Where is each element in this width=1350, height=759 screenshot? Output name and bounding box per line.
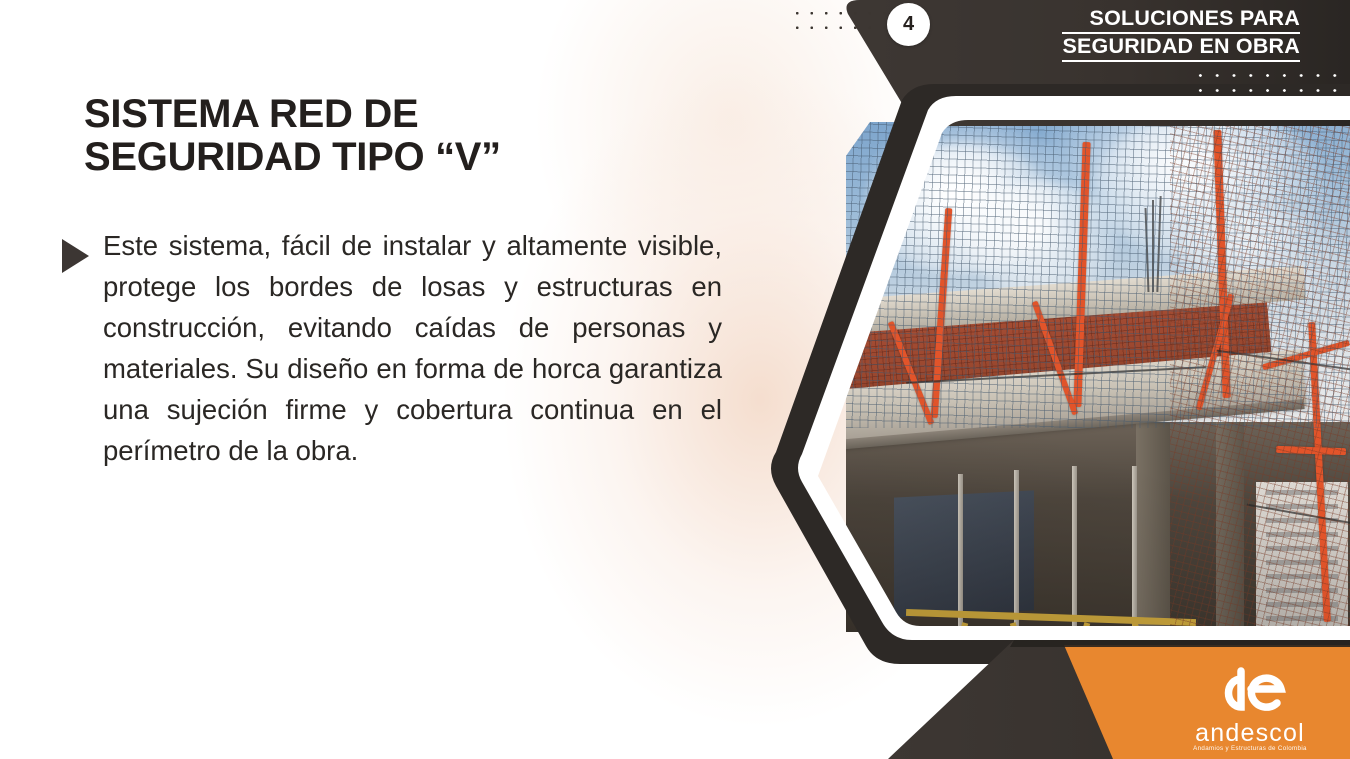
construction-photo <box>846 122 1350 632</box>
logo-wordmark: andescol <box>1160 720 1340 746</box>
header-title-line1: SOLUCIONES PARA <box>1062 6 1300 34</box>
footer-strip <box>1010 640 1350 647</box>
brand-logo: andescol Andamios y Estructuras de Colom… <box>1160 662 1340 753</box>
slide-title: SISTEMA RED DE SEGURIDAD TIPO “V” <box>84 93 724 179</box>
header-title-line2: SEGURIDAD EN OBRA <box>1062 34 1300 62</box>
logo-tagline: Andamios y Estructuras de Colombia <box>1160 745 1340 753</box>
photo-scaffold-pipe <box>1014 470 1019 632</box>
ae-monogram-svg <box>1211 663 1289 717</box>
photo-safety-net-right <box>1170 122 1350 632</box>
ae-monogram-icon <box>1160 662 1340 718</box>
dot-grid-light-icon <box>1192 68 1344 106</box>
photo-scaffold-pipe <box>1132 466 1137 632</box>
photo-tarp <box>894 490 1034 617</box>
slide-title-line1: SISTEMA RED DE <box>84 92 418 136</box>
body-text: Este sistema, fácil de instalar y altame… <box>103 225 722 471</box>
header-wedge <box>847 0 1061 120</box>
bullet-paragraph-row: Este sistema, fácil de instalar y altame… <box>62 225 722 471</box>
header-title: SOLUCIONES PARA SEGURIDAD EN OBRA <box>1062 6 1300 62</box>
slide-title-line2: SEGURIDAD TIPO “V” <box>84 136 724 179</box>
page-number: 4 <box>903 13 914 36</box>
construction-photo-frame <box>846 122 1350 632</box>
photo-scaffold-pipe <box>958 474 963 632</box>
slide-canvas: SOLUCIONES PARA SEGURIDAD EN OBRA 4 SIST… <box>0 0 1350 759</box>
photo-column <box>1136 422 1170 632</box>
page-number-badge: 4 <box>887 3 930 46</box>
triangle-bullet-icon <box>62 239 89 273</box>
photo-scaffold-pipe <box>1072 466 1077 632</box>
